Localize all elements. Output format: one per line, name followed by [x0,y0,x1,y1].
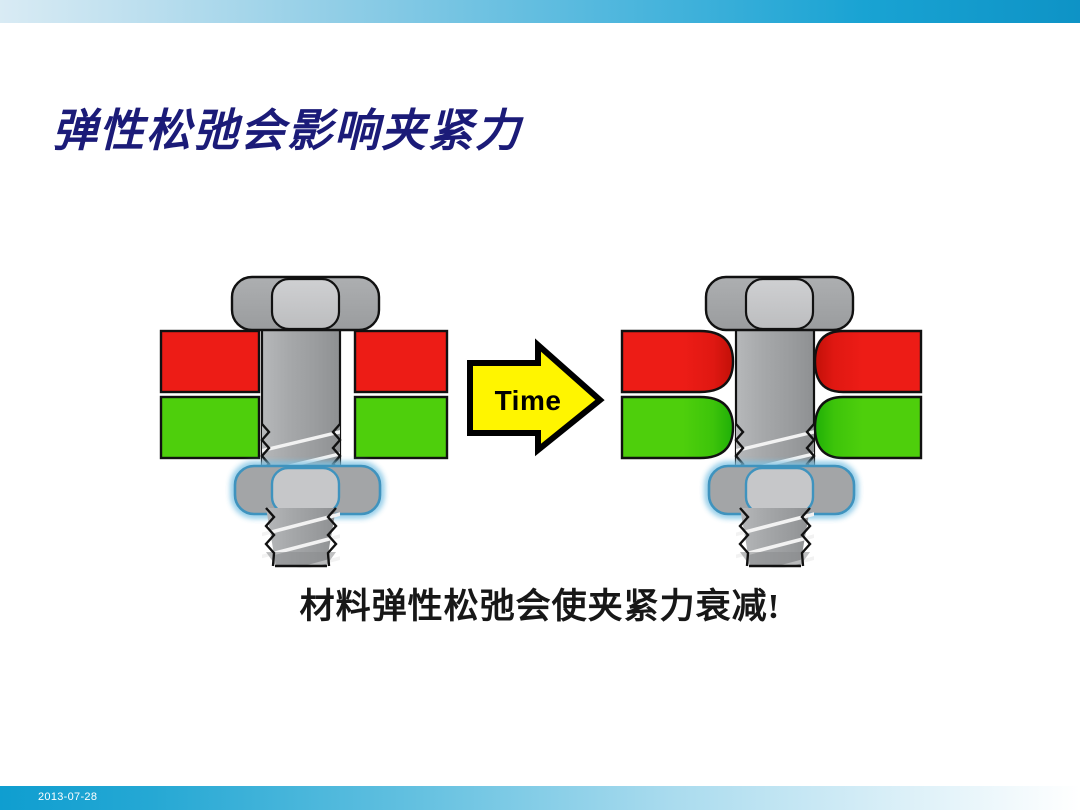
date-stamp: 2013-07-28 [38,791,97,803]
left-plate-top-right [355,331,447,392]
right-thread-lower [730,508,822,580]
left-thread-lower [256,508,348,580]
left-bolt-assembly [161,277,447,580]
right-bolt-assembly [622,277,921,580]
right-plate-bottom-right [815,397,921,458]
page-title: 弹性松弛会影响夹紧力 [52,94,522,159]
right-nut [709,466,854,514]
left-bolt-shank [262,322,340,466]
right-plate-top-right [815,331,921,392]
top-accent-bar [0,0,1080,23]
slide-caption: 材料弹性松弛会使夹紧力衰减! [0,578,1080,629]
right-plate-top-left [622,331,733,392]
left-thread-upper [256,424,348,474]
right-thread-upper [730,424,822,474]
right-plate-bottom-left [622,397,733,458]
left-plate-top-left [161,331,259,392]
right-bolt-head [706,277,853,330]
left-bolt-head [232,277,379,330]
left-nut [235,466,380,514]
left-plate-bottom-left [161,397,259,458]
left-plate-bottom-right [355,397,447,458]
time-arrow-label: Time [478,385,578,417]
right-bolt-shank [736,322,814,466]
bottom-accent-bar [0,786,1080,810]
